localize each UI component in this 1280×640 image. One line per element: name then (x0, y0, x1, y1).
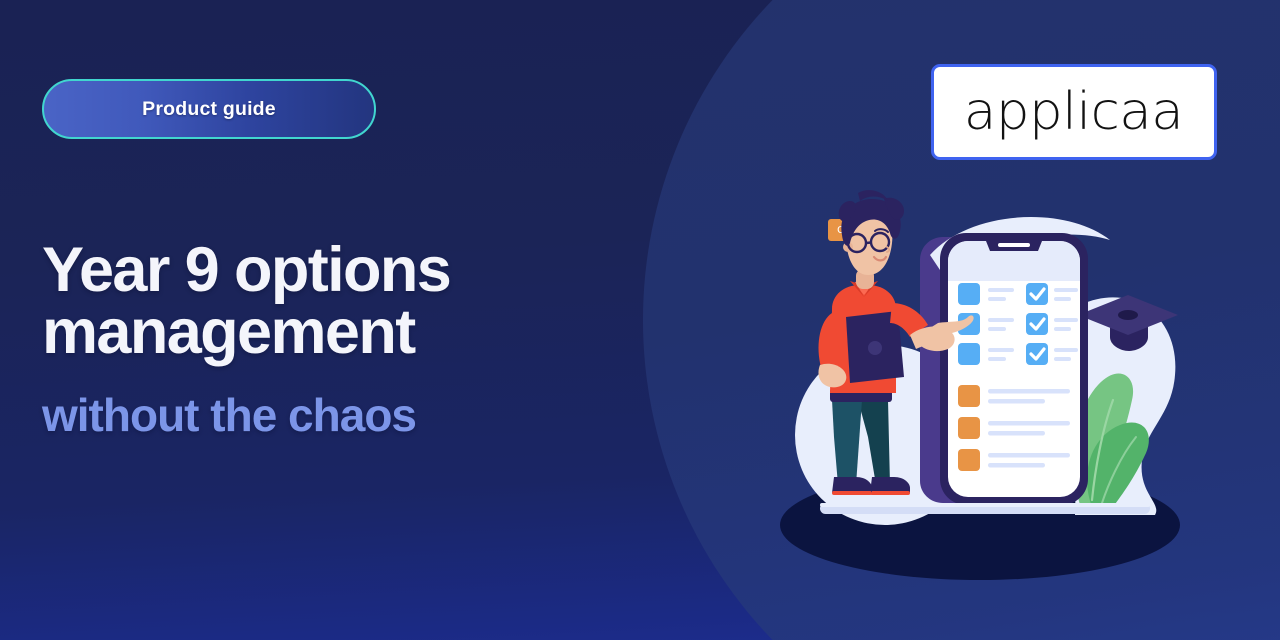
checklist-line (988, 288, 1014, 292)
phone-speaker (998, 243, 1030, 247)
page-title-line-1: Year 9 options (42, 235, 450, 305)
checklist-checkbox-unchecked (958, 283, 980, 305)
checklist-checkbox-unchecked (958, 343, 980, 365)
checklist-line (1054, 348, 1078, 352)
checklist-line-wide (988, 389, 1070, 394)
character-shoe-sole-front (832, 491, 872, 495)
checklist-orange-box (958, 385, 980, 407)
hero-illustration (780, 185, 1220, 585)
checklist-checkbox-checked (1026, 313, 1048, 335)
checklist-line (1054, 297, 1071, 301)
checklist-orange-box (958, 417, 980, 439)
checklist-line-wide (988, 421, 1070, 426)
checklist-line (1054, 327, 1071, 331)
applicaa-logo: applicaa (931, 64, 1217, 160)
character-shoe-sole-back (870, 491, 910, 495)
glasses-temple (848, 243, 849, 244)
character-tablet-button (868, 341, 882, 355)
checklist-line-mid (988, 399, 1045, 404)
page-title-line-2: management (42, 301, 582, 363)
checklist-line (1054, 288, 1078, 292)
checklist-line-mid (988, 431, 1045, 436)
applicaa-logo-text: applicaa (964, 86, 1183, 138)
checklist-line (988, 327, 1006, 331)
platform-bar-highlight (820, 503, 1150, 507)
graduation-cap-button (1118, 310, 1138, 320)
page-subtitle: without the chaos (42, 392, 416, 438)
checklist-line (988, 357, 1006, 361)
checklist-line (1054, 357, 1071, 361)
checklist-line-wide (988, 453, 1070, 458)
checklist-checkbox-checked (1026, 343, 1048, 365)
banner-root: Product guide Year 9 options management … (0, 0, 1280, 640)
page-title: Year 9 options management (42, 239, 582, 364)
glasses-bridge (866, 243, 871, 244)
product-guide-badge-label: Product guide (142, 98, 276, 121)
product-guide-badge[interactable]: Product guide (42, 79, 376, 139)
checklist-orange-box (958, 449, 980, 471)
checklist-line (988, 297, 1006, 301)
checklist-checkbox-checked (1026, 283, 1048, 305)
checklist-line (1054, 318, 1078, 322)
checklist-line (988, 318, 1014, 322)
checklist-line-mid (988, 463, 1045, 468)
checklist-line (988, 348, 1014, 352)
